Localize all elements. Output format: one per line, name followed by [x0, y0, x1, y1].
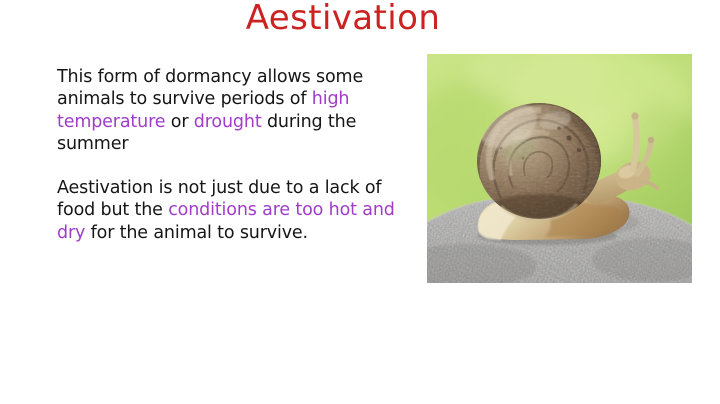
- paragraph-1-text-part-2: or: [165, 112, 193, 132]
- paragraph-2-text-part-2: for the animal to survive.: [85, 223, 308, 243]
- body-text-block: This form of dormancy allows some animal…: [57, 66, 407, 244]
- page-title: Aestivation: [0, 0, 686, 37]
- snail-photo-illustration: [427, 54, 692, 283]
- highlight-drought: drought: [194, 112, 262, 132]
- slide-canvas: Aestivation This form of dormancy allows…: [0, 0, 720, 404]
- snail-photo: [427, 54, 692, 283]
- paragraph-1: This form of dormancy allows some animal…: [57, 66, 407, 155]
- paragraph-2: Aestivation is not just due to a lack of…: [57, 177, 407, 244]
